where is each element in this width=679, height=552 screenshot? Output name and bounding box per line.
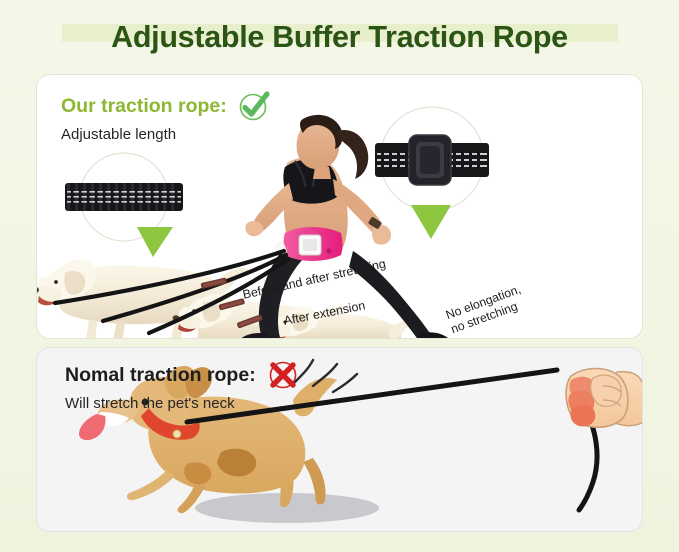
green-triangle-pointer [411,205,451,239]
adjustable-length-label: Adjustable length [61,126,271,143]
check-circle-icon [237,88,271,122]
waist-belt-buckle-detail [375,107,489,239]
normal-traction-rope-label: Nomal traction rope: [65,365,256,386]
green-triangle-pointer [137,227,173,257]
will-stretch-pets-neck-label: Will stretch the pet's neck [65,395,300,412]
our-traction-rope-panel: Our traction rope: Adjustable length Bef… [36,74,643,339]
page-title-container: Adjustable Buffer Traction Rope [0,14,679,60]
our-traction-rope-label: Our traction rope: [61,96,227,117]
x-circle-icon [266,357,300,391]
elastic-webbing-strap-detail [65,153,183,257]
normal-traction-rope-heading-block: Nomal traction rope: Will stretch the pe… [65,360,300,412]
normal-traction-rope-panel: Nomal traction rope: Will stretch the pe… [36,347,643,532]
dog-tongue [79,414,106,440]
cartoon-fist-gripping-leash [566,369,643,428]
infographic-canvas: Adjustable Buffer Traction Rope [0,0,679,552]
our-traction-rope-heading-block: Our traction rope: Adjustable length [61,91,271,143]
page-title: Adjustable Buffer Traction Rope [111,22,568,53]
